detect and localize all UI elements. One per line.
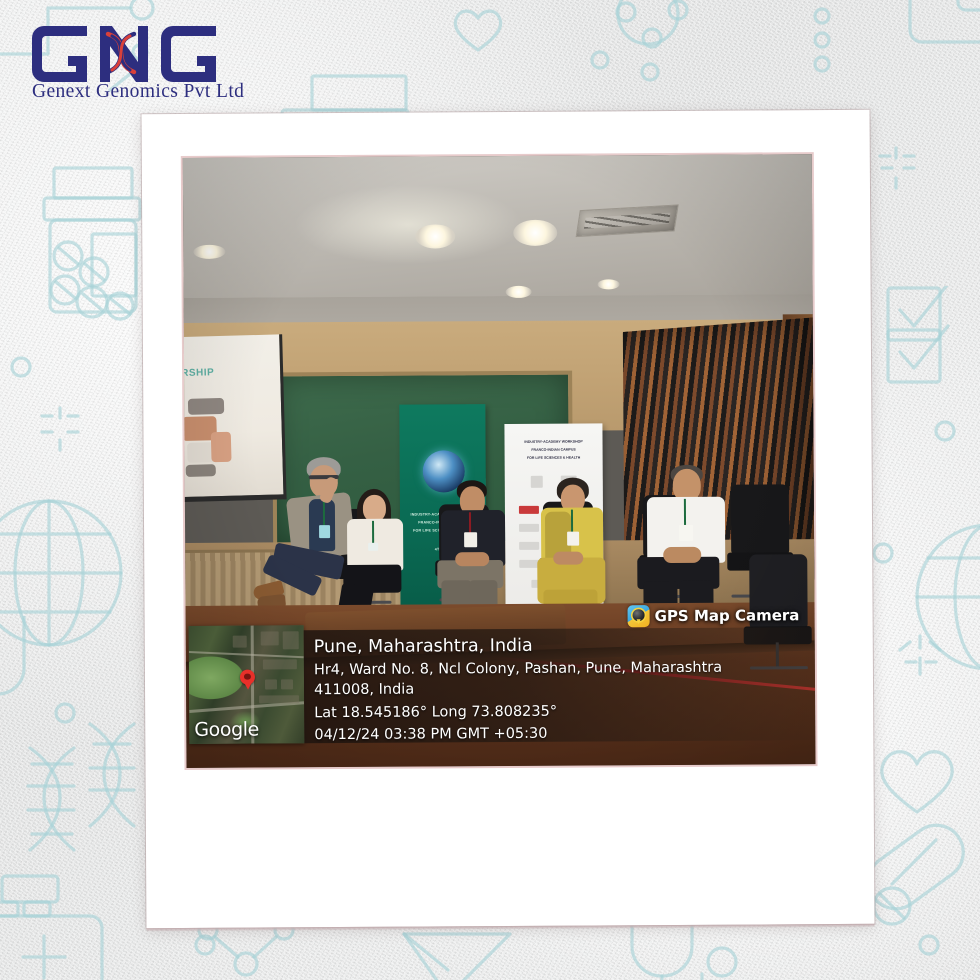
medical-bag-icon xyxy=(0,874,140,980)
capsule-icon xyxy=(858,806,980,936)
checkbox-icon xyxy=(882,286,962,416)
ring-icon xyxy=(6,352,36,382)
banner-line-2: FRANCO-INDIAN CAMPUS xyxy=(505,447,603,453)
location-pin-icon xyxy=(240,670,255,685)
paper-plane-icon xyxy=(398,930,518,980)
ceiling-light xyxy=(513,220,557,246)
ring-icon xyxy=(930,416,960,446)
name-badge xyxy=(319,525,330,538)
gps-map-thumbnail[interactable]: Google xyxy=(189,625,305,744)
slide-text: RSHIP xyxy=(183,368,215,379)
gps-info-card: Google Pune, Maharashtra, India Hr4, War… xyxy=(186,622,816,768)
gps-map-camera-icon xyxy=(628,605,650,627)
ring-icon xyxy=(868,538,898,568)
banner-line-3: FOR LIFE SCIENCES & HEALTH xyxy=(505,455,603,461)
focus-marks-icon xyxy=(866,138,926,198)
focus-marks-icon xyxy=(30,400,90,460)
circle-dots-icon xyxy=(806,4,856,82)
ceiling-light xyxy=(415,224,455,248)
polaroid-frame: RSHIP INDUSTRY-ACADEMY WORKSHOP FRANCO-I… xyxy=(142,110,875,928)
test-tube-icon xyxy=(0,616,42,706)
ceiling-light xyxy=(506,286,532,298)
ceiling-light xyxy=(598,279,620,289)
google-watermark: Google xyxy=(194,721,259,740)
company-name-text: Genext Genomics Pvt Ltd xyxy=(32,82,244,102)
heart-icon xyxy=(448,2,508,58)
gps-timestamp: 04/12/24 03:38 PM GMT +05:30 xyxy=(314,722,807,746)
gps-text-panel: Pune, Maharashtra, India Hr4, Ward No. 8… xyxy=(304,627,816,743)
event-photo: RSHIP INDUSTRY-ACADEMY WORKSHOP FRANCO-I… xyxy=(183,154,816,768)
company-logo: Genext Genomics Pvt Ltd xyxy=(24,18,254,110)
rounded-frame-icon xyxy=(880,0,980,80)
gps-address-line-2: 411008, India xyxy=(314,678,807,702)
banner-line-1: INDUSTRY-ACADEMY WORKSHOP xyxy=(505,439,603,445)
globe-icon xyxy=(904,512,980,682)
gps-app-badge: GPS Map Camera xyxy=(628,604,800,627)
gps-coordinates: Lat 18.545186° Long 73.808235° xyxy=(314,699,807,725)
gps-city-line: Pune, Maharashtra, India xyxy=(314,632,807,660)
page-root: Genext Genomics Pvt Ltd RSHIP xyxy=(0,0,980,980)
ring-icon xyxy=(586,46,614,74)
gps-app-name: GPS Map Camera xyxy=(655,608,800,624)
